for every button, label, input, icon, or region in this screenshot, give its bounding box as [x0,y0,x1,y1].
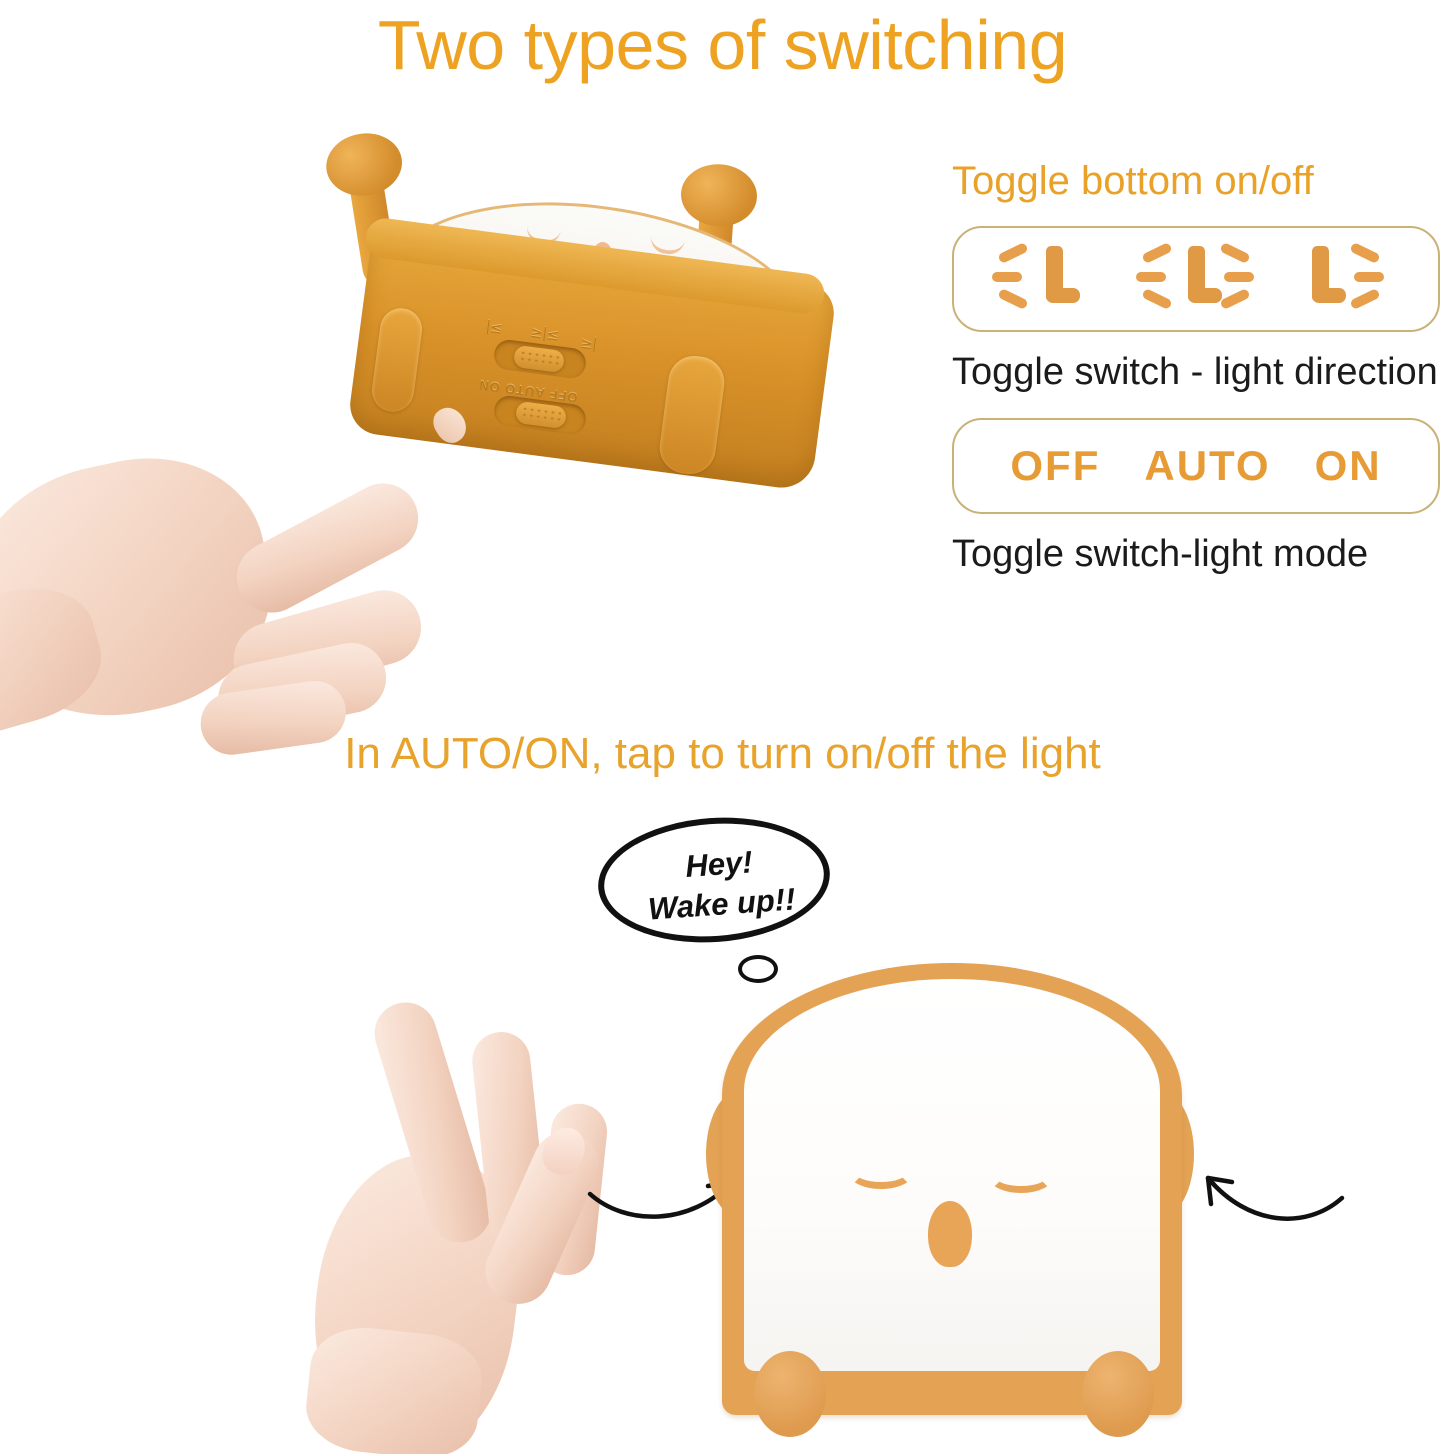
mode-off[interactable]: OFF [1010,442,1100,490]
lamp-foot [1188,288,1222,303]
ray-left-top [1141,242,1172,264]
leg-knob [322,128,407,201]
ray-right-top [1219,242,1250,264]
toast-foot-right [1082,1351,1154,1437]
ray-right-bot [1219,288,1250,310]
face-mouth [928,1201,972,1267]
lamp-foot [1046,288,1080,303]
ray-left-bot [997,288,1028,310]
section-subtitle: In AUTO/ON, tap to turn on/off the light [0,726,1445,782]
ray-left-bot [1141,288,1172,310]
ray-right-top [1349,242,1380,264]
hand-pressing-switch [0,360,490,730]
arrow-right-to-lamp [1190,1146,1350,1236]
light-left-icon [984,242,1104,316]
mode-auto[interactable]: AUTO [1144,442,1270,490]
ray-right-mid [1224,272,1254,282]
ray-left-top [997,242,1028,264]
face-eye-right [988,1159,1054,1193]
lamp-foot [1312,288,1346,303]
page-title: Two types of switching [0,2,1445,88]
toast-diffuser-panel [744,979,1160,1371]
light-right-icon [1288,242,1408,316]
face-eye-left [848,1155,914,1189]
ray-left-mid [992,272,1022,282]
light-direction-panel [952,226,1440,332]
speech-bubble: Hey! Wake up!! [594,810,834,950]
ray-right-bot [1349,288,1380,310]
ray-left-mid [1136,272,1166,282]
light-both-icon [1136,242,1256,316]
emboss-direction-icon-1: ⋝| [485,319,504,339]
toast-foot-left [754,1351,826,1437]
light-mode-caption: Toggle switch-light mode [952,530,1440,578]
index-fingernail [428,402,473,448]
product-photo-toast-lamp [700,963,1200,1443]
mode-on[interactable]: ON [1315,442,1382,490]
ray-right-mid [1354,272,1384,282]
infographic-page: Two types of switching ⋝| ⋝|⋜ |⋜ OFF AUT… [0,0,1445,1454]
info-heading: Toggle bottom on/off [952,156,1440,206]
leg-knob [679,162,759,229]
light-direction-caption: Toggle switch - light direction [952,348,1440,396]
light-mode-panel: OFF AUTO ON [952,418,1440,514]
info-column: Toggle bottom on/off [952,156,1440,578]
